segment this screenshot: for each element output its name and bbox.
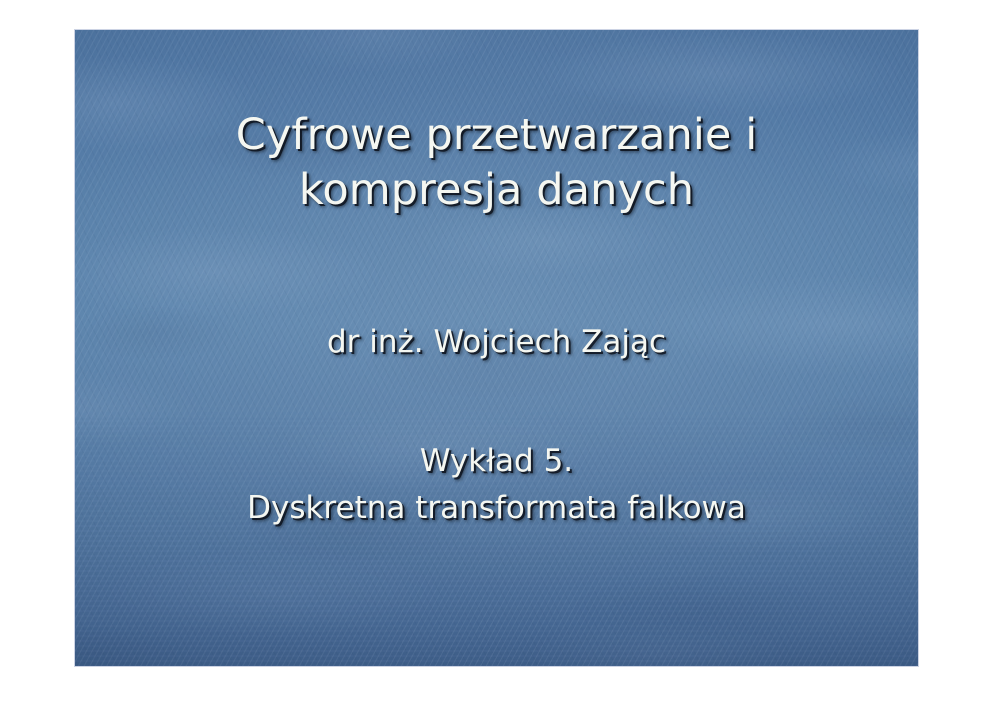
- page-canvas: Cyfrowe przetwarzanie i kompresja danych…: [0, 0, 992, 701]
- presentation-slide: Cyfrowe przetwarzanie i kompresja danych…: [74, 29, 919, 667]
- slide-content: Cyfrowe przetwarzanie i kompresja danych…: [75, 30, 918, 666]
- slide-lecture-number: Wykład 5.: [75, 438, 918, 485]
- slide-author: dr inż. Wojciech Zając: [75, 322, 918, 362]
- slide-lecture-block: Wykład 5. Dyskretna transformata falkowa: [75, 438, 918, 532]
- slide-lecture-topic: Dyskretna transformata falkowa: [75, 485, 918, 532]
- slide-title: Cyfrowe przetwarzanie i kompresja danych: [75, 108, 918, 218]
